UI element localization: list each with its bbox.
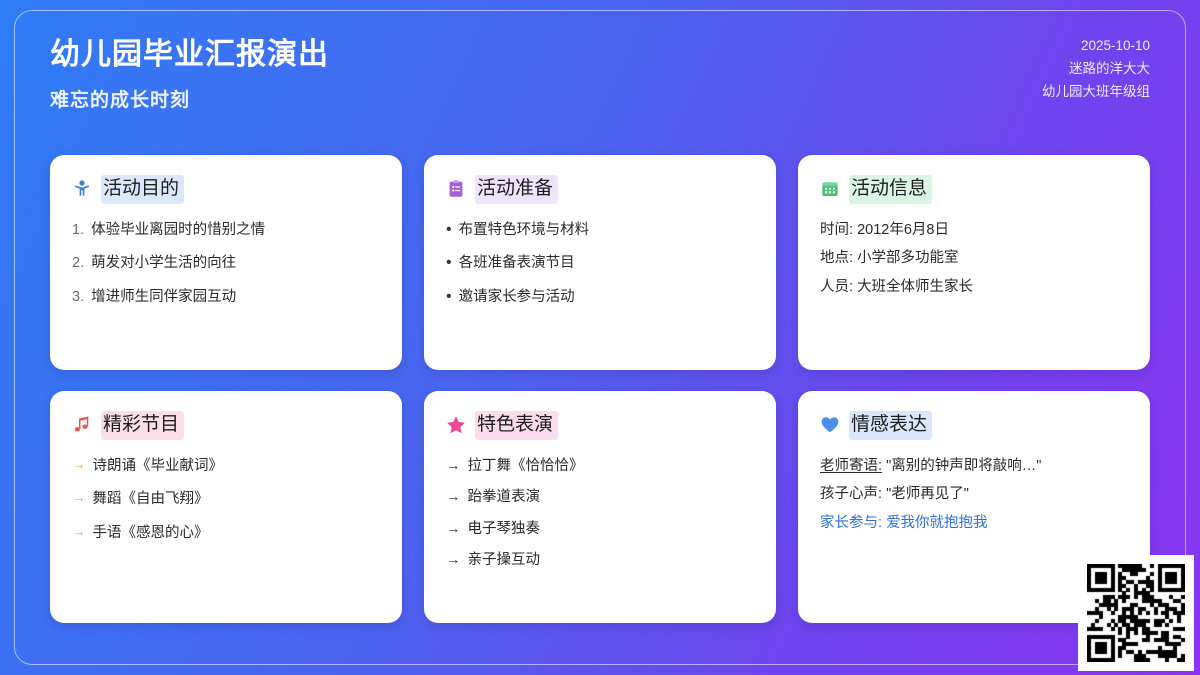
list-text: 电子琴独奏 [468, 518, 541, 540]
card-body-list: → 诗朗诵《毕业献词》 → 舞蹈《自由飞翔》 → 手语《感恩的心》 [72, 455, 380, 544]
list-text: 拉丁舞《恰恰恰》 [468, 455, 584, 477]
music-note-icon [72, 415, 92, 435]
list-item: • 布置特色环境与材料 [446, 219, 754, 241]
info-label: 孩子心声: [820, 486, 882, 502]
list-item: 3. 增进师生同伴家园互动 [72, 286, 380, 308]
card-title: 精彩节目 [101, 411, 184, 440]
header-date: 2025-10-10 [1042, 34, 1150, 57]
list-item: → 亲子操互动 [446, 549, 754, 571]
card-activity-purpose: 活动目的 1. 体验毕业离园时的惜别之情 2. 萌发对小学生活的向往 3. 增进… [50, 155, 402, 370]
heart-icon [820, 415, 840, 435]
info-label: 老师寄语: [820, 458, 882, 474]
list-marker: → [72, 488, 86, 510]
card-highlight-programs: 精彩节目 → 诗朗诵《毕业献词》 → 舞蹈《自由飞翔》 → 手语《感恩的心》 [50, 391, 402, 623]
list-marker: • [446, 286, 452, 308]
info-value: 爱我你就抱抱我 [886, 515, 988, 531]
list-marker: → [446, 549, 461, 571]
info-value: 大班全体师生家长 [857, 279, 973, 295]
list-marker: 2. [72, 252, 84, 274]
info-value: 2012年6月8日 [857, 222, 949, 238]
card-featured-performances: 特色表演 → 拉丁舞《恰恰恰》 → 跆拳道表演 → 电子琴独奏 → 亲子操互动 [424, 391, 776, 623]
slide-root: 幼儿园毕业汇报演出 难忘的成长时刻 2025-10-10 迷路的洋大大 幼儿园大… [0, 0, 1200, 675]
header-meta: 2025-10-10 迷路的洋大大 幼儿园大班年级组 [1042, 34, 1150, 104]
info-line: 地点: 小学部多功能室 [820, 247, 1128, 270]
list-item: → 诗朗诵《毕业献词》 [72, 455, 380, 477]
card-body-lines: 时间: 2012年6月8日 地点: 小学部多功能室 人员: 大班全体师生家长 [820, 219, 1128, 299]
list-text: 跆拳道表演 [468, 486, 541, 508]
list-item: → 电子琴独奏 [446, 518, 754, 540]
header-org: 幼儿园大班年级组 [1042, 80, 1150, 103]
info-line: 人员: 大班全体师生家长 [820, 276, 1128, 299]
list-marker: → [446, 518, 461, 540]
list-text: 亲子操互动 [468, 549, 541, 571]
info-line: 老师寄语: "离别的钟声即将敲响…" [820, 455, 1128, 478]
calendar-icon [820, 179, 840, 199]
list-text: 布置特色环境与材料 [459, 219, 590, 241]
list-marker: • [446, 252, 452, 274]
list-item: 1. 体验毕业离园时的惜别之情 [72, 219, 380, 241]
person-raising-arms-icon [72, 179, 92, 199]
card-title: 活动目的 [101, 175, 184, 204]
card-body-list: → 拉丁舞《恰恰恰》 → 跆拳道表演 → 电子琴独奏 → 亲子操互动 [446, 455, 754, 572]
list-text: 体验毕业离园时的惜别之情 [91, 219, 265, 241]
list-marker: • [446, 219, 452, 241]
list-marker: → [446, 455, 461, 477]
info-value: "离别的钟声即将敲响…" [886, 458, 1041, 474]
info-line: 家长参与: 爱我你就抱抱我 [820, 512, 1128, 535]
info-value: "老师再见了" [886, 486, 969, 502]
card-title: 活动信息 [849, 175, 932, 204]
card-body-list: 1. 体验毕业离园时的惜别之情 2. 萌发对小学生活的向往 3. 增进师生同伴家… [72, 219, 380, 308]
card-body-list: • 布置特色环境与材料 • 各班准备表演节目 • 邀请家长参与活动 [446, 219, 754, 308]
card-title: 活动准备 [475, 175, 558, 204]
card-header: 特色表演 [446, 411, 754, 440]
info-label: 地点: [820, 250, 853, 266]
list-item: • 各班准备表演节目 [446, 252, 754, 274]
list-item: → 拉丁舞《恰恰恰》 [446, 455, 754, 477]
info-line: 时间: 2012年6月8日 [820, 219, 1128, 242]
list-text: 诗朗诵《毕业献词》 [93, 455, 224, 477]
card-title: 特色表演 [475, 411, 558, 440]
card-title: 情感表达 [849, 411, 932, 440]
header-author: 迷路的洋大大 [1042, 57, 1150, 80]
qr-code-container[interactable] [1078, 555, 1194, 671]
info-label: 时间: [820, 222, 853, 238]
header-left: 幼儿园毕业汇报演出 难忘的成长时刻 [50, 34, 329, 112]
list-item: • 邀请家长参与活动 [446, 286, 754, 308]
list-marker: 1. [72, 219, 84, 241]
list-text: 各班准备表演节目 [459, 252, 575, 274]
list-text: 舞蹈《自由飞翔》 [93, 488, 209, 510]
card-header: 情感表达 [820, 411, 1128, 440]
list-marker: → [72, 455, 86, 477]
page-title: 幼儿园毕业汇报演出 [50, 36, 329, 74]
list-marker: 3. [72, 286, 84, 308]
qr-code[interactable] [1087, 564, 1185, 662]
list-item: 2. 萌发对小学生活的向往 [72, 252, 380, 274]
clipboard-icon [446, 179, 466, 199]
star-icon [446, 415, 466, 435]
list-text: 增进师生同伴家园互动 [91, 286, 236, 308]
info-label: 家长参与: [820, 515, 882, 531]
list-item: → 跆拳道表演 [446, 486, 754, 508]
list-text: 手语《感恩的心》 [93, 522, 209, 544]
card-activity-info: 活动信息 时间: 2012年6月8日 地点: 小学部多功能室 人员: 大班全体师… [798, 155, 1150, 370]
list-text: 萌发对小学生活的向往 [91, 252, 236, 274]
card-header: 精彩节目 [72, 411, 380, 440]
list-text: 邀请家长参与活动 [459, 286, 575, 308]
slide-header: 幼儿园毕业汇报演出 难忘的成长时刻 2025-10-10 迷路的洋大大 幼儿园大… [50, 34, 1150, 112]
card-header: 活动准备 [446, 175, 754, 204]
list-item: → 手语《感恩的心》 [72, 522, 380, 544]
info-line: 孩子心声: "老师再见了" [820, 483, 1128, 506]
list-marker: → [446, 486, 461, 508]
page-subtitle: 难忘的成长时刻 [50, 85, 329, 112]
list-item: → 舞蹈《自由飞翔》 [72, 488, 380, 510]
card-header: 活动信息 [820, 175, 1128, 204]
list-marker: → [72, 522, 86, 544]
info-label: 人员: [820, 279, 853, 295]
card-grid: 活动目的 1. 体验毕业离园时的惜别之情 2. 萌发对小学生活的向往 3. 增进… [50, 155, 1150, 623]
info-value: 小学部多功能室 [857, 250, 959, 266]
card-body-lines: 老师寄语: "离别的钟声即将敲响…" 孩子心声: "老师再见了" 家长参与: 爱… [820, 455, 1128, 535]
card-activity-preparation: 活动准备 • 布置特色环境与材料 • 各班准备表演节目 • 邀请家长参与活动 [424, 155, 776, 370]
card-header: 活动目的 [72, 175, 380, 204]
